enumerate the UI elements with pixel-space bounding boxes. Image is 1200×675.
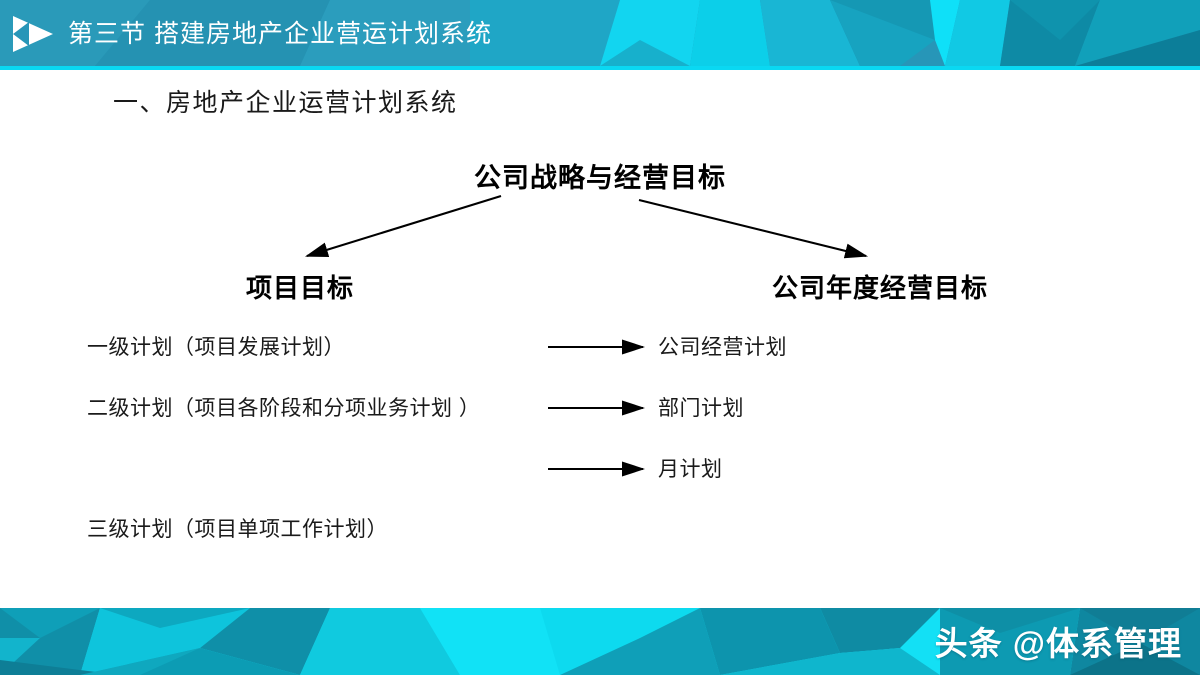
connector-root-to-right: [639, 200, 866, 256]
list-item: 月计划: [658, 455, 723, 485]
footer-watermark: 头条 @体系管理: [935, 617, 1182, 665]
list-item: 部门计划: [658, 394, 744, 424]
header-underline-accent: [0, 66, 1200, 70]
diagram-branch-left-label: 项目目标: [170, 268, 430, 305]
play-triangle-logo-icon: [10, 14, 56, 54]
diagram-branch-right-label: 公司年度经营目标: [700, 268, 1060, 305]
list-item: 公司经营计划: [658, 333, 787, 363]
slide-canvas: 第三节 搭建房地产企业营运计划系统 一、房地产企业运营计划系统 公司战略与经营目…: [0, 0, 1200, 675]
diagram-root-node-label: 公司战略与经营目标: [0, 156, 1200, 195]
list-item: 三级计划（项目单项工作计划）: [87, 515, 537, 545]
section-heading: 一、房地产企业运营计划系统: [113, 83, 458, 119]
connector-root-to-left: [307, 196, 501, 256]
header-bar: 第三节 搭建房地产企业营运计划系统: [0, 0, 1200, 66]
list-item: 二级计划（项目各阶段和分项业务计划 ）: [87, 394, 537, 424]
header-title: 第三节 搭建房地产企业营运计划系统: [68, 14, 492, 54]
list-item: 一级计划（项目发展计划）: [87, 333, 537, 363]
